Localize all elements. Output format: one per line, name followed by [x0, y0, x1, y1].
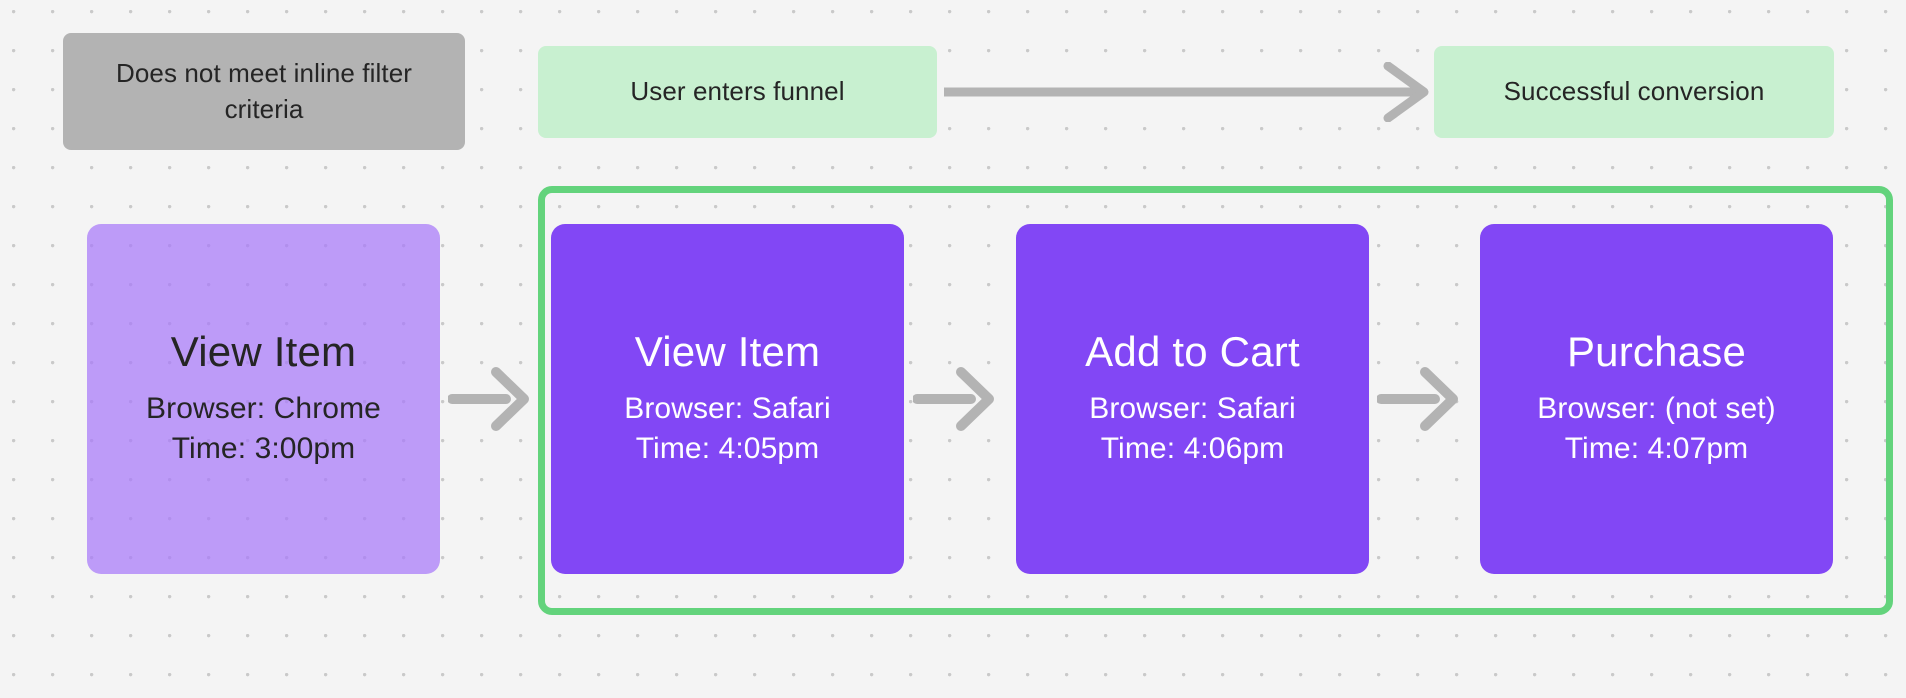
- event-card-time: Time: 4:07pm: [1565, 429, 1749, 469]
- event-card-browser: Browser: (not set): [1537, 389, 1776, 429]
- event-card-time: Time: 4:06pm: [1101, 429, 1285, 469]
- funnel-diagram-canvas: Does not meet inline filter criteria Use…: [0, 0, 1906, 698]
- event-card-title: View Item: [171, 329, 356, 375]
- event-card-view-item-excluded[interactable]: View Item Browser: Chrome Time: 3:00pm: [87, 224, 440, 574]
- legend-successful-conversion-chip: Successful conversion: [1434, 46, 1834, 138]
- event-card-time: Time: 3:00pm: [172, 429, 356, 469]
- legend-excluded-label: Does not meet inline filter criteria: [77, 56, 451, 126]
- flow-arrow-icon-2: [913, 366, 997, 432]
- event-card-view-item-included[interactable]: View Item Browser: Safari Time: 4:05pm: [551, 224, 904, 574]
- event-card-title: View Item: [635, 329, 820, 375]
- event-card-time: Time: 4:05pm: [636, 429, 820, 469]
- event-card-title: Add to Cart: [1085, 329, 1300, 375]
- legend-excluded-chip: Does not meet inline filter criteria: [63, 33, 465, 150]
- legend-enters-funnel-label: User enters funnel: [630, 74, 844, 109]
- flow-arrow-icon-1: [448, 366, 532, 432]
- event-card-browser: Browser: Chrome: [146, 389, 381, 429]
- event-card-browser: Browser: Safari: [1089, 389, 1296, 429]
- event-card-title: Purchase: [1567, 329, 1746, 375]
- event-card-add-to-cart[interactable]: Add to Cart Browser: Safari Time: 4:06pm: [1016, 224, 1369, 574]
- event-card-purchase[interactable]: Purchase Browser: (not set) Time: 4:07pm: [1480, 224, 1833, 574]
- flow-arrow-icon-3: [1377, 366, 1461, 432]
- event-card-browser: Browser: Safari: [624, 389, 831, 429]
- legend-flow-arrow-icon: [944, 62, 1434, 122]
- legend-successful-conversion-label: Successful conversion: [1504, 74, 1765, 109]
- legend-enters-funnel-chip: User enters funnel: [538, 46, 937, 138]
